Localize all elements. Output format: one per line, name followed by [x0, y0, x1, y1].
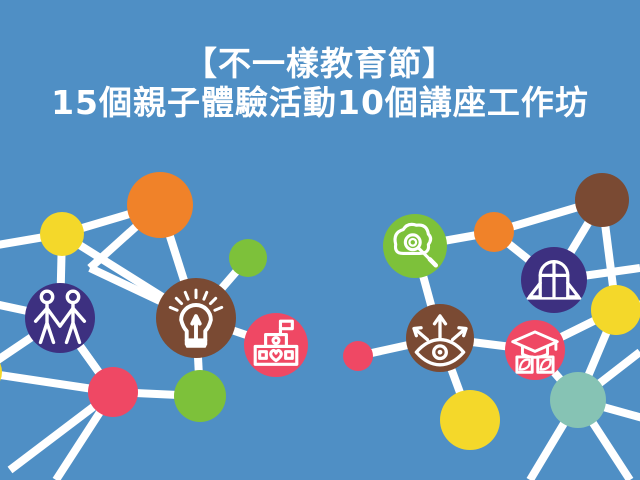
teal-dot-bottom-right	[550, 372, 606, 428]
yellow-dot-upper-left	[40, 212, 84, 256]
network-graphic	[0, 0, 640, 480]
network-node-circle	[575, 173, 629, 227]
network-node-circle	[474, 212, 514, 252]
orange-dot-top	[127, 172, 193, 238]
network-node-circle	[88, 367, 138, 417]
idea-node	[156, 278, 236, 358]
network-node-circle	[550, 372, 606, 428]
yellow-dot-right	[591, 285, 640, 335]
pink-dot-mid	[88, 367, 138, 417]
brown-dot-top-right	[575, 173, 629, 227]
pink-dot-small	[343, 341, 373, 371]
orange-dot-right	[474, 212, 514, 252]
green-dot-small	[229, 239, 267, 277]
network-node-circle	[591, 285, 640, 335]
community-node	[25, 283, 95, 353]
discovery-node	[383, 214, 447, 278]
network-node-circle	[127, 172, 193, 238]
yellow-dot-bottom	[440, 390, 500, 450]
learning-node	[505, 320, 565, 380]
network-node-circle	[440, 390, 500, 450]
green-dot-mid	[174, 370, 226, 422]
network-node-circle	[229, 239, 267, 277]
education-festival-banner: 【不一樣教育節】 15個親子體驗活動10個講座工作坊	[0, 0, 640, 480]
network-node-circle	[174, 370, 226, 422]
play-node	[521, 247, 587, 313]
care-node	[244, 313, 308, 377]
guidance-node	[406, 304, 474, 372]
network-node-circle	[40, 212, 84, 256]
network-node-circle	[343, 341, 373, 371]
network-node-circle	[25, 283, 95, 353]
